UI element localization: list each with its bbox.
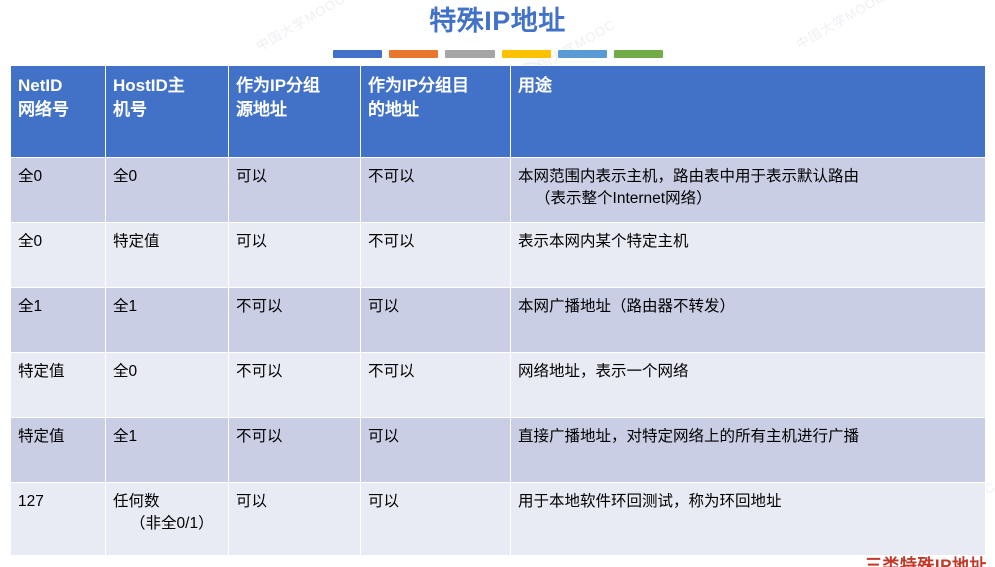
cell-usage: 本网范围内表示主机，路由表中用于表示默认路由 （表示整个Internet网络） (511, 158, 986, 223)
cell-usage-line1: 本网广播地址（路由器不转发） (518, 298, 735, 315)
cell-destination-address: 可以 (361, 483, 511, 556)
column-header-hostid-line1: HostID主 (113, 76, 185, 95)
cell-netid: 全0 (11, 223, 106, 288)
cell-netid: 全0 (11, 158, 106, 223)
accent-bar-gray (445, 50, 494, 58)
column-header-hostid-line2: 机号 (113, 100, 147, 119)
cell-usage-line1: 表示本网内某个特定主机 (518, 233, 689, 250)
cell-source-address: 不可以 (229, 353, 361, 418)
bottom-note: 三类特殊IP地址 (865, 551, 987, 567)
column-header-source-address-line1: 作为IP分组 (236, 76, 320, 95)
cell-hostid: 全1 (106, 288, 229, 353)
cell-hostid: 任何数 （非全0/1） (106, 483, 229, 556)
cell-source-address: 不可以 (229, 288, 361, 353)
cell-hostid-line1: 任何数 (113, 493, 160, 510)
cell-usage: 表示本网内某个特定主机 (511, 223, 986, 288)
cell-usage: 直接广播地址，对特定网络上的所有主机进行广播 (511, 418, 986, 483)
column-header-hostid: HostID主 机号 (106, 66, 229, 158)
cell-usage-line2: （表示整个Internet网络） (518, 188, 978, 210)
accent-bar-green (614, 50, 663, 58)
cell-usage: 网络地址，表示一个网络 (511, 353, 986, 418)
cell-usage-line1: 本网范围内表示主机，路由表中用于表示默认路由 (518, 168, 859, 185)
table-row: 特定值 全0 不可以 不可以 网络地址，表示一个网络 (11, 353, 986, 418)
cell-source-address: 可以 (229, 158, 361, 223)
cell-netid: 全1 (11, 288, 106, 353)
cell-usage: 本网广播地址（路由器不转发） (511, 288, 986, 353)
column-header-usage-line1: 用途 (518, 76, 552, 95)
page-title: 特殊IP地址 (0, 4, 995, 38)
column-header-source-address: 作为IP分组 源地址 (229, 66, 361, 158)
cell-destination-address: 不可以 (361, 223, 511, 288)
column-header-source-address-line2: 源地址 (236, 100, 287, 119)
accent-bar-blue (333, 50, 382, 58)
table-row: 全0 特定值 可以 不可以 表示本网内某个特定主机 (11, 223, 986, 288)
table-row: 全0 全0 可以 不可以 本网范围内表示主机，路由表中用于表示默认路由 （表示整… (11, 158, 986, 223)
column-header-destination-address: 作为IP分组目 的地址 (361, 66, 511, 158)
cell-hostid: 全1 (106, 418, 229, 483)
cell-destination-address: 可以 (361, 418, 511, 483)
cell-usage-line1: 网络地址，表示一个网络 (518, 363, 689, 380)
cell-netid: 127 (11, 483, 106, 556)
column-header-netid-line1: NetID (18, 76, 62, 95)
cell-hostid-line2: （非全0/1） (113, 513, 221, 535)
table-header: NetID 网络号 HostID主 机号 作为IP分组 源地址 作为IP分组目 … (11, 66, 986, 158)
column-header-netid-line2: 网络号 (18, 100, 69, 119)
column-header-destination-address-line2: 的地址 (368, 100, 419, 119)
column-header-usage: 用途 (511, 66, 986, 158)
accent-bar-yellow (502, 50, 551, 58)
accent-bar-light-blue (558, 50, 607, 58)
cell-destination-address: 不可以 (361, 353, 511, 418)
special-ip-table: NetID 网络号 HostID主 机号 作为IP分组 源地址 作为IP分组目 … (10, 65, 986, 556)
cell-hostid: 全0 (106, 353, 229, 418)
cell-source-address: 可以 (229, 483, 361, 556)
cell-netid: 特定值 (11, 418, 106, 483)
table-row: 特定值 全1 不可以 可以 直接广播地址，对特定网络上的所有主机进行广播 (11, 418, 986, 483)
cell-usage-line1: 直接广播地址，对特定网络上的所有主机进行广播 (518, 428, 859, 445)
accent-bar-orange (389, 50, 438, 58)
table-header-row: NetID 网络号 HostID主 机号 作为IP分组 源地址 作为IP分组目 … (11, 66, 986, 158)
table-body: 全0 全0 可以 不可以 本网范围内表示主机，路由表中用于表示默认路由 （表示整… (11, 158, 986, 556)
special-ip-table-wrapper: NetID 网络号 HostID主 机号 作为IP分组 源地址 作为IP分组目 … (10, 65, 985, 556)
table-row: 127 任何数 （非全0/1） 可以 可以 用于本地软件环回测试，称为环回地址 (11, 483, 986, 556)
column-header-netid: NetID 网络号 (11, 66, 106, 158)
column-header-destination-address-line1: 作为IP分组目 (368, 76, 469, 95)
slide-canvas: 中国大学MOOC 中国大学MOOC 中国大学MOOC 中国大学MOOC 中国大学… (0, 0, 995, 567)
cell-source-address: 不可以 (229, 418, 361, 483)
cell-netid: 特定值 (11, 353, 106, 418)
cell-hostid: 全0 (106, 158, 229, 223)
cell-hostid: 特定值 (106, 223, 229, 288)
cell-usage: 用于本地软件环回测试，称为环回地址 (511, 483, 986, 556)
cell-source-address: 可以 (229, 223, 361, 288)
table-row: 全1 全1 不可以 可以 本网广播地址（路由器不转发） (11, 288, 986, 353)
cell-destination-address: 不可以 (361, 158, 511, 223)
cell-destination-address: 可以 (361, 288, 511, 353)
title-block: 特殊IP地址 (0, 4, 995, 38)
cell-usage-line1: 用于本地软件环回测试，称为环回地址 (518, 493, 782, 510)
accent-bar-group (333, 50, 663, 58)
